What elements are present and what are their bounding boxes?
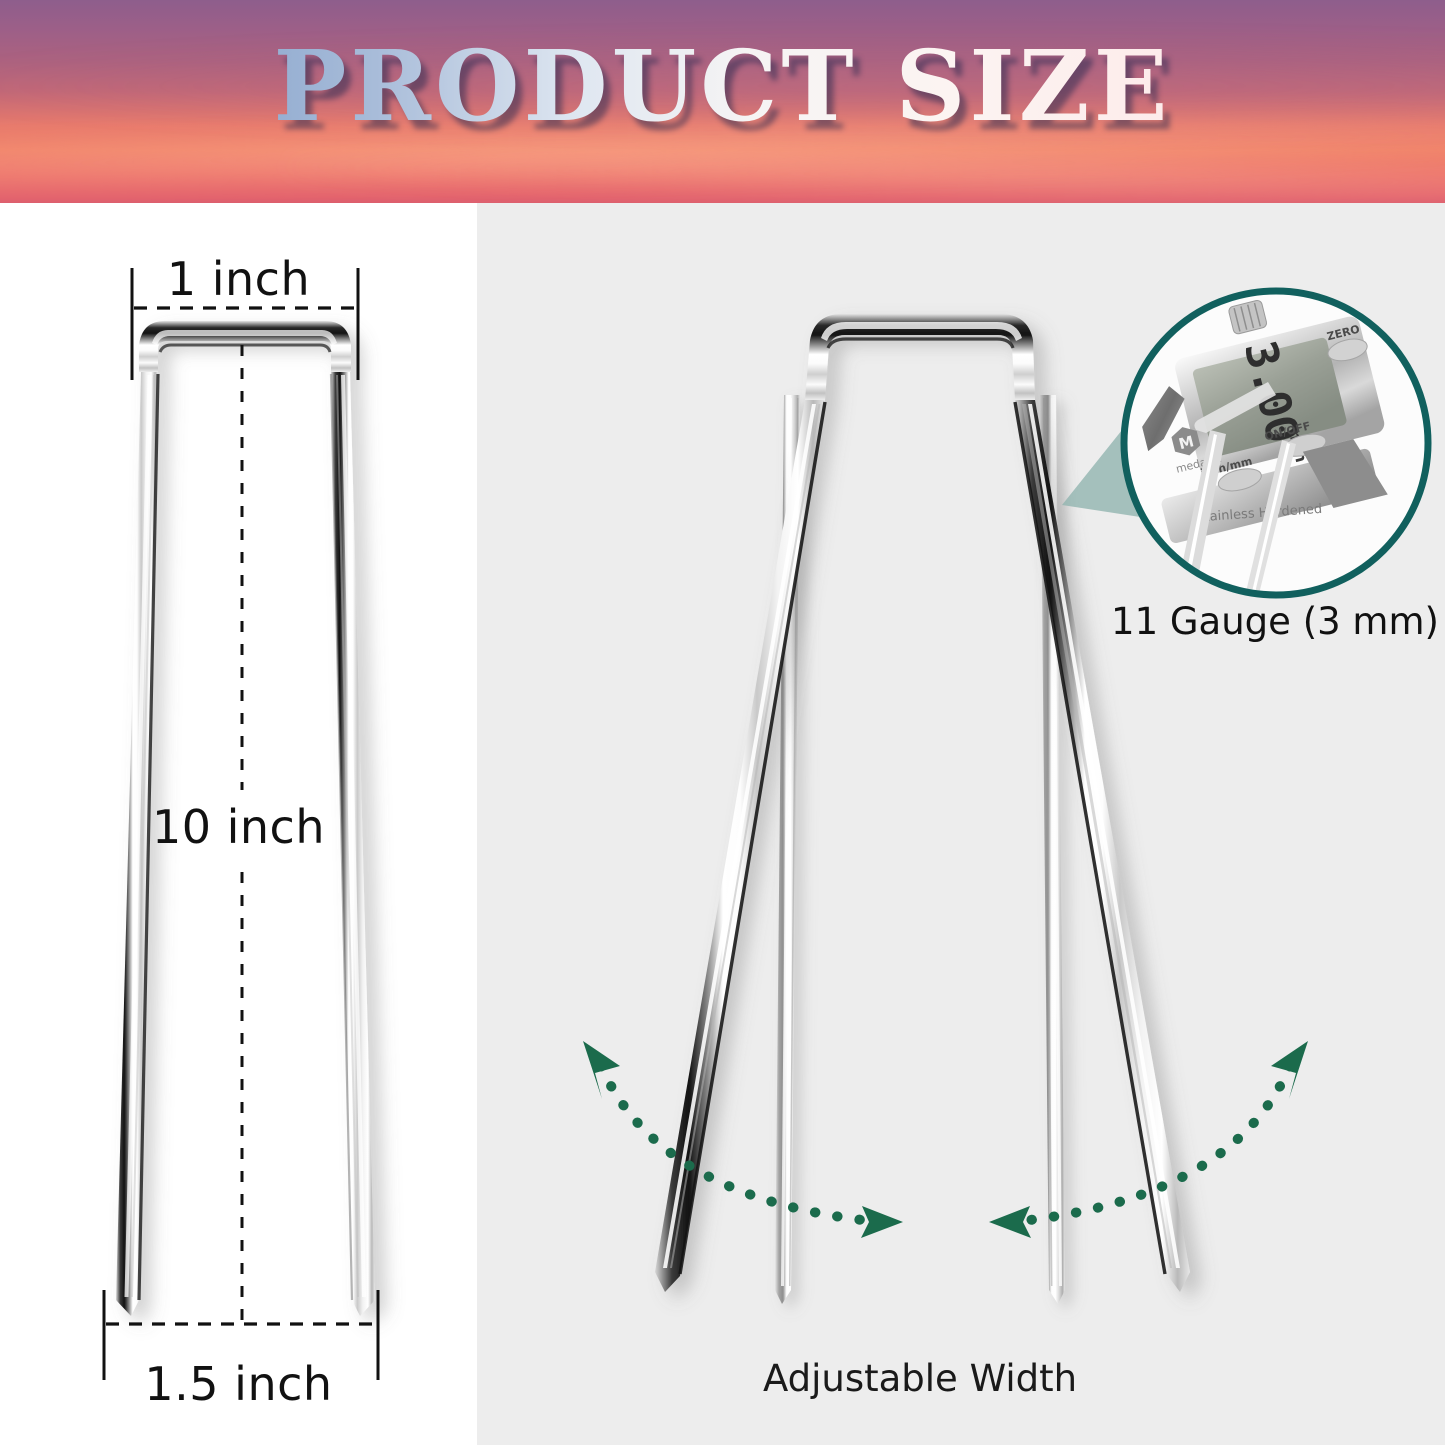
illustration-layer: Stainless Hardened 3.00 mm ZERO ON/OFF xyxy=(0,0,1445,1445)
gauge-callout-circle: Stainless Hardened 3.00 mm ZERO ON/OFF xyxy=(1119,277,1428,598)
arrow-path-left xyxy=(601,1066,880,1222)
dimension-label-length: 10 inch xyxy=(0,800,477,854)
adjustable-width-caption: Adjustable Width xyxy=(620,1357,1220,1400)
gauge-caption: 11 Gauge (3 mm) xyxy=(1100,600,1445,643)
dimension-label-width-top: 1 inch xyxy=(0,252,477,306)
outer-leg-left xyxy=(655,400,825,1292)
product-size-infographic: PRODUCT SIZE xyxy=(0,0,1445,1445)
dimension-label-width-bottom: 1.5 inch xyxy=(0,1357,477,1411)
arrowhead-right-left xyxy=(989,1206,1031,1238)
staple-inner-legs xyxy=(775,395,1065,1304)
arrowhead-left-right xyxy=(861,1206,903,1238)
